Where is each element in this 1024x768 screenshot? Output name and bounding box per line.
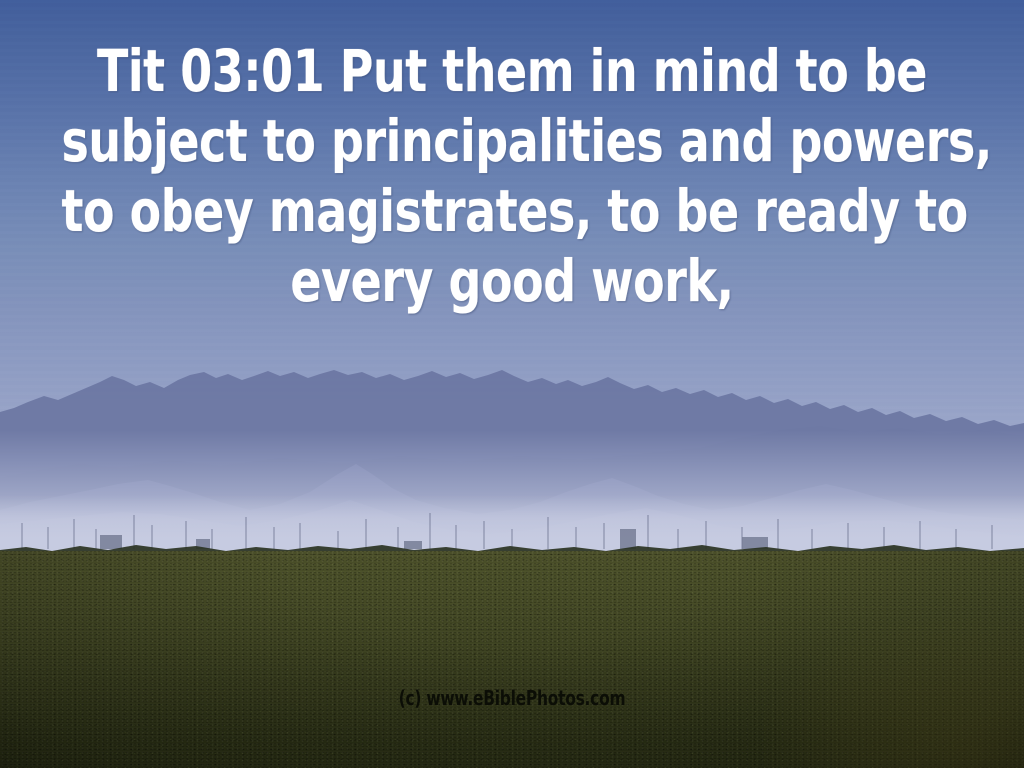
field-vignette	[0, 551, 1024, 768]
field-warm-highlight	[764, 618, 1024, 768]
verse-photo-canvas: Tit 03:01 Put them in mind to be subject…	[0, 0, 1024, 768]
field-row-lines	[0, 551, 1024, 768]
field-crop-texture	[0, 551, 1024, 768]
alfalfa-field-foreground	[0, 551, 1024, 768]
